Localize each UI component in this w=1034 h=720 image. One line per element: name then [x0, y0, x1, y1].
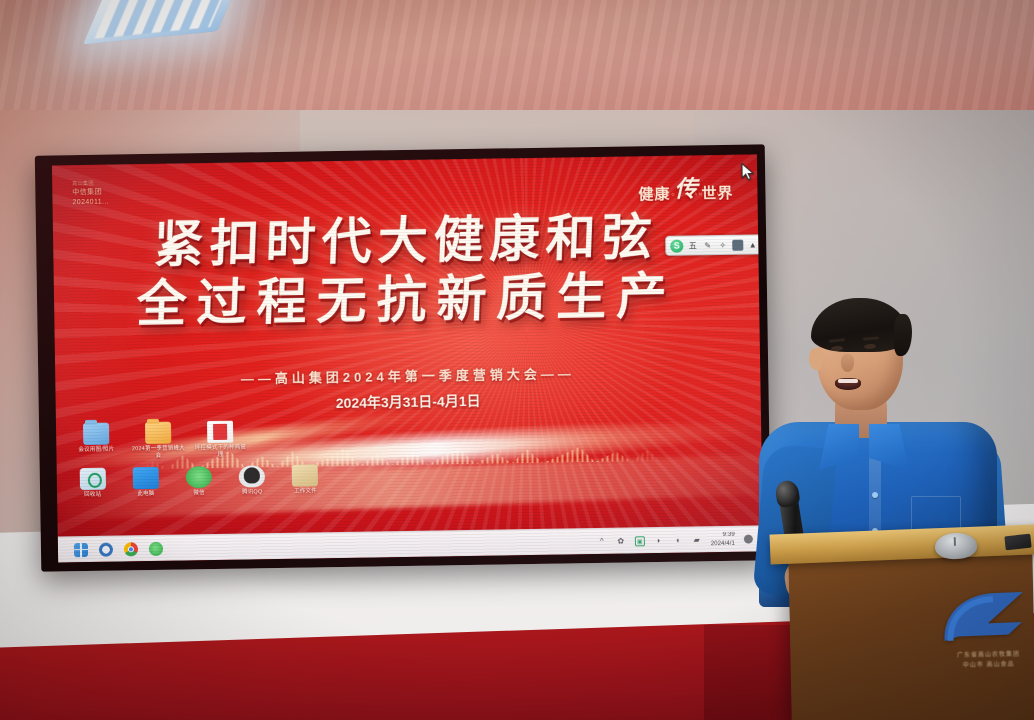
- notification-icon[interactable]: [744, 535, 753, 544]
- chrome-icon[interactable]: [124, 542, 138, 556]
- brand-logo-part-b: 传: [674, 169, 698, 203]
- ime-pen-icon[interactable]: ✎: [702, 240, 713, 251]
- wechat-icon[interactable]: [149, 541, 163, 555]
- desktop-icon-row-2: 回收站 此电脑 微信 腾讯QQ: [69, 464, 329, 500]
- desktop-icon-wechat[interactable]: 微信: [175, 466, 223, 498]
- cloud-icon[interactable]: ✿: [616, 536, 626, 546]
- ime-mode-icon[interactable]: 五: [687, 240, 698, 251]
- desktop-icon-label: 微信: [175, 490, 222, 498]
- desktop-icon-label: 腾讯QQ: [229, 489, 276, 497]
- folder-icon: [145, 422, 171, 444]
- desktop-icon-q1-conference[interactable]: 2024第一季营销峰大会: [130, 421, 187, 461]
- ime-skin-icon[interactable]: [732, 239, 743, 250]
- led-display-frame: 高山集团 中信集团 2024011... 健康 传 世界 JIANKANG CH…: [35, 144, 771, 571]
- led-display-screen[interactable]: 高山集团 中信集团 2024011... 健康 传 世界 JIANKANG CH…: [52, 154, 763, 562]
- chevron-up-icon[interactable]: ^: [597, 536, 607, 546]
- ime-keyboard-icon[interactable]: ▲: [747, 239, 758, 250]
- desktop-icon-label: 回收站: [69, 491, 116, 499]
- sogou-ime-toolbar[interactable]: S 五 ✎ ✧ ▲ ⠿: [665, 234, 763, 256]
- presentation-photo: 高山集团 中信集团 2024011... 健康 传 世界 JIANKANG CH…: [0, 0, 1034, 720]
- podium-logo-icon: [937, 588, 1031, 653]
- speaker-mouth: [835, 378, 861, 390]
- wechat-icon: [186, 466, 212, 488]
- qq-penguin-icon: [239, 465, 265, 487]
- clock-date: 2024/4/1: [711, 539, 735, 547]
- corner-mark-line2: 2024011...: [72, 198, 109, 209]
- podium-body: 广东省高山农牧集团 中山市 高山食品: [788, 540, 1034, 720]
- desktop-icon-label: 环控模式下的种鸡管理: [192, 444, 248, 460]
- wifi-icon[interactable]: ◗: [654, 535, 664, 545]
- headline-line-1: 紧扣时代大健康和弦: [52, 206, 759, 276]
- podium-text-line-1: 广东省高山农牧集团: [938, 650, 1034, 662]
- corner-mark-top: 高山集团: [72, 181, 109, 189]
- battery-icon[interactable]: ▰: [692, 535, 702, 545]
- taskbar-clock[interactable]: 9:39 2024/4/1: [711, 531, 735, 548]
- desktop-icon-recycle-bin[interactable]: 回收站: [69, 467, 117, 499]
- brand-logo: 健康 传 世界: [638, 169, 734, 204]
- ime-sparkle-icon[interactable]: ✧: [717, 239, 728, 250]
- taskbar-left-group: [58, 541, 163, 557]
- folder-icon: [292, 464, 318, 486]
- desktop-icon-work-files[interactable]: 工作文件: [281, 464, 329, 496]
- folder-icon: [83, 423, 109, 445]
- shirt-button: [872, 492, 878, 498]
- sogou-logo-icon[interactable]: S: [670, 239, 683, 252]
- start-icon[interactable]: [74, 542, 88, 556]
- headline-line-2: 全过程无抗新质生产: [53, 265, 760, 335]
- green-shield-icon[interactable]: ▣: [635, 536, 645, 546]
- taskbar-tray-group: ^ ✿ ▣ ◗ ◖ ▰ 9:39 2024/4/1: [597, 531, 763, 550]
- desktop-icon-row-1: 会议用图/照片 2024第一季营销峰大会 环控模式下的种鸡管理: [68, 419, 329, 462]
- desktop-icons: 会议用图/照片 2024第一季营销峰大会 环控模式下的种鸡管理 回收站: [68, 419, 329, 499]
- clock-time: 9:39: [711, 531, 735, 539]
- podium-text-line-2: 中山市 高山食品: [939, 660, 1034, 672]
- podium-org-text: 广东省高山农牧集团 中山市 高山食品: [938, 650, 1034, 671]
- speaker-nose: [841, 354, 854, 372]
- volume-icon[interactable]: ◖: [673, 535, 683, 545]
- search-icon[interactable]: [99, 542, 113, 556]
- speaker-hair: [811, 298, 909, 352]
- desktop-icon-label: 2024第一季营销峰大会: [130, 445, 186, 461]
- desktop-icon-breeding-doc[interactable]: 环控模式下的种鸡管理: [192, 420, 249, 460]
- corner-mark-line1: 中信集团: [72, 188, 109, 199]
- desktop-icon-this-pc[interactable]: 此电脑: [122, 467, 170, 499]
- screen-corner-mark: 高山集团 中信集团 2024011...: [72, 181, 109, 209]
- desktop-icon-label: 会议用图/照片: [68, 446, 124, 454]
- computer-icon: [132, 467, 158, 489]
- document-icon: [207, 421, 233, 443]
- recycle-bin-icon: [79, 468, 105, 490]
- banner-headline: 紧扣时代大健康和弦 全过程无抗新质生产: [53, 206, 760, 335]
- ime-toolbox-icon[interactable]: ⠿: [762, 239, 763, 250]
- desktop-icon-qq[interactable]: 腾讯QQ: [228, 465, 276, 497]
- desktop-icon-label: 工作文件: [282, 488, 329, 496]
- speaker-ear: [809, 348, 822, 370]
- desktop-icon-meeting-photos[interactable]: 会议用图/照片: [68, 422, 125, 462]
- desktop-icon-label: 此电脑: [122, 491, 169, 499]
- remote-control[interactable]: [1004, 534, 1031, 551]
